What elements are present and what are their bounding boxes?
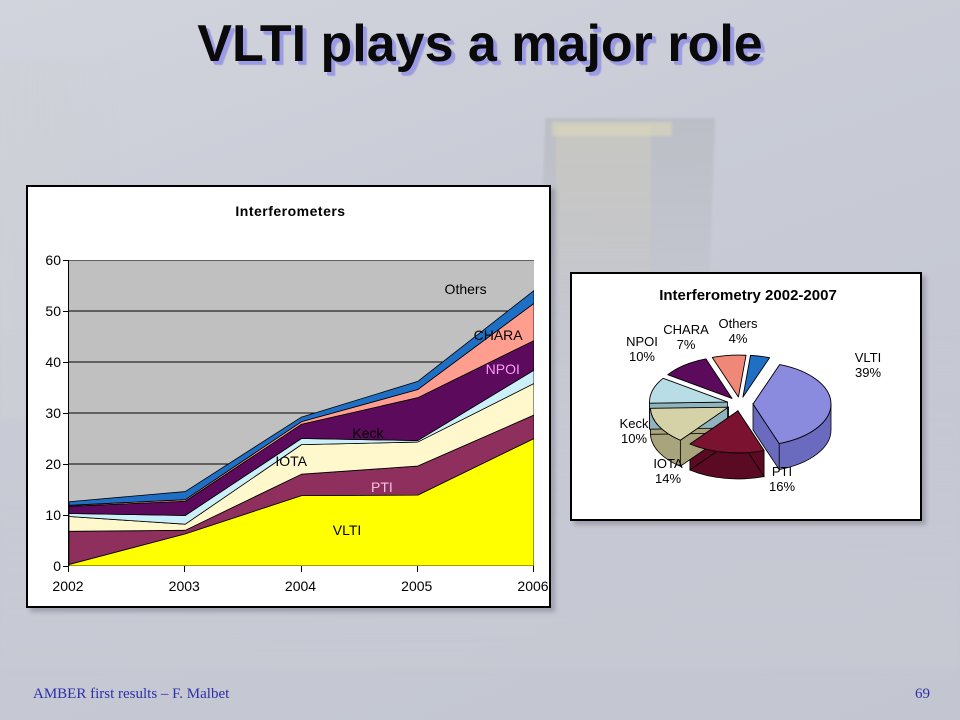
area-chart-x-tick-label: 2006 (517, 578, 548, 594)
area-chart-series-label-vlti: VLTI (333, 522, 362, 538)
area-chart-x-tick-mark (68, 566, 69, 572)
area-chart-plot-area (68, 260, 534, 566)
pie-slice-name: PTI (769, 464, 795, 479)
pie-slice-name: IOTA (653, 456, 682, 471)
area-chart-x-tick-label: 2004 (285, 578, 316, 594)
pie-slice-value: 4% (718, 331, 757, 346)
area-chart-x-tick-mark (417, 566, 418, 572)
area-chart-series-label-chara: CHARA (474, 327, 523, 343)
pie-slice-label-pti: PTI16% (769, 464, 795, 495)
area-chart-y-tick-mark (63, 260, 68, 261)
pie-slice-label-chara: CHARA7% (663, 322, 709, 353)
area-chart-y-tick-label: 10 (45, 507, 61, 523)
pie-chart-title: Interferometry 2002-2007 (572, 287, 924, 304)
pie-slice-label-vlti: VLTI39% (855, 350, 882, 381)
page-title: VLTI plays a major role (0, 14, 960, 74)
area-chart-plot-wrap: 0102030405060 20022003200420052006 Other… (68, 260, 533, 566)
interferometers-area-chart-panel: Interferometers 0102030405060 2002200320… (26, 185, 551, 608)
pie-slice-name: VLTI (855, 350, 882, 365)
pie-slice-name: Others (718, 316, 757, 331)
area-chart-title: Interferometers (28, 203, 553, 219)
interferometry-pie-chart-panel: Interferometry 2002-2007 VLTI39%PTI16%IO… (570, 272, 922, 521)
background-photo-roof (552, 122, 672, 136)
pie-slice-label-npoi: NPOI10% (626, 334, 658, 365)
pie-slice-value: 10% (626, 349, 658, 364)
area-chart-y-tick-label: 30 (45, 405, 61, 421)
area-chart-x-tick-mark (184, 566, 185, 572)
area-chart-x-tick-mark (533, 566, 534, 572)
area-chart-series-label-npoi: NPOI (486, 361, 520, 377)
pie-slice-name: Keck (620, 416, 649, 431)
area-chart-y-tick-mark (63, 515, 68, 516)
pie-slice-name: NPOI (626, 334, 658, 349)
pie-chart-wrap: VLTI39%PTI16%IOTA14%Keck10%NPOI10%CHARA7… (572, 304, 924, 519)
area-chart-x-tick-label: 2005 (401, 578, 432, 594)
area-chart-y-tick-label: 20 (45, 456, 61, 472)
area-chart-x-tick-label: 2002 (52, 578, 83, 594)
area-chart-x-tick-mark (301, 566, 302, 572)
area-chart-series-label-keck: Keck (352, 425, 383, 441)
pie-slice-value: 7% (663, 337, 709, 352)
area-chart-y-tick-label: 0 (53, 558, 61, 574)
area-chart-series-label-pti: PTI (371, 479, 393, 495)
area-chart-y-tick-label: 60 (45, 252, 61, 268)
pie-slice-label-iota: IOTA14% (653, 456, 682, 487)
pie-slice-value: 10% (620, 431, 649, 446)
area-chart-y-tick-mark (63, 413, 68, 414)
area-chart-y-tick-mark (63, 311, 68, 312)
pie-slice-label-keck: Keck10% (620, 416, 649, 447)
area-chart-series-label-iota: IOTA (275, 453, 307, 469)
pie-slice-value: 14% (653, 471, 682, 486)
pie-slice-value: 16% (769, 479, 795, 494)
footer-page-number: 69 (915, 686, 930, 703)
pie-slice-value: 39% (855, 365, 882, 380)
pie-slice-name: CHARA (663, 322, 709, 337)
slide: VLTI plays a major role Interferometers … (0, 0, 960, 720)
area-chart-y-tick-label: 40 (45, 354, 61, 370)
footer-divider (30, 678, 930, 679)
area-chart-y-tick-mark (63, 362, 68, 363)
area-chart-y-tick-label: 50 (45, 303, 61, 319)
footer-text: AMBER first results – F. Malbet (33, 686, 229, 703)
pie-slice-label-others: Others4% (718, 316, 757, 347)
area-chart-x-tick-label: 2003 (169, 578, 200, 594)
area-chart-svg (69, 260, 534, 566)
area-chart-series-label-others: Others (445, 281, 487, 297)
area-chart-y-tick-mark (63, 464, 68, 465)
